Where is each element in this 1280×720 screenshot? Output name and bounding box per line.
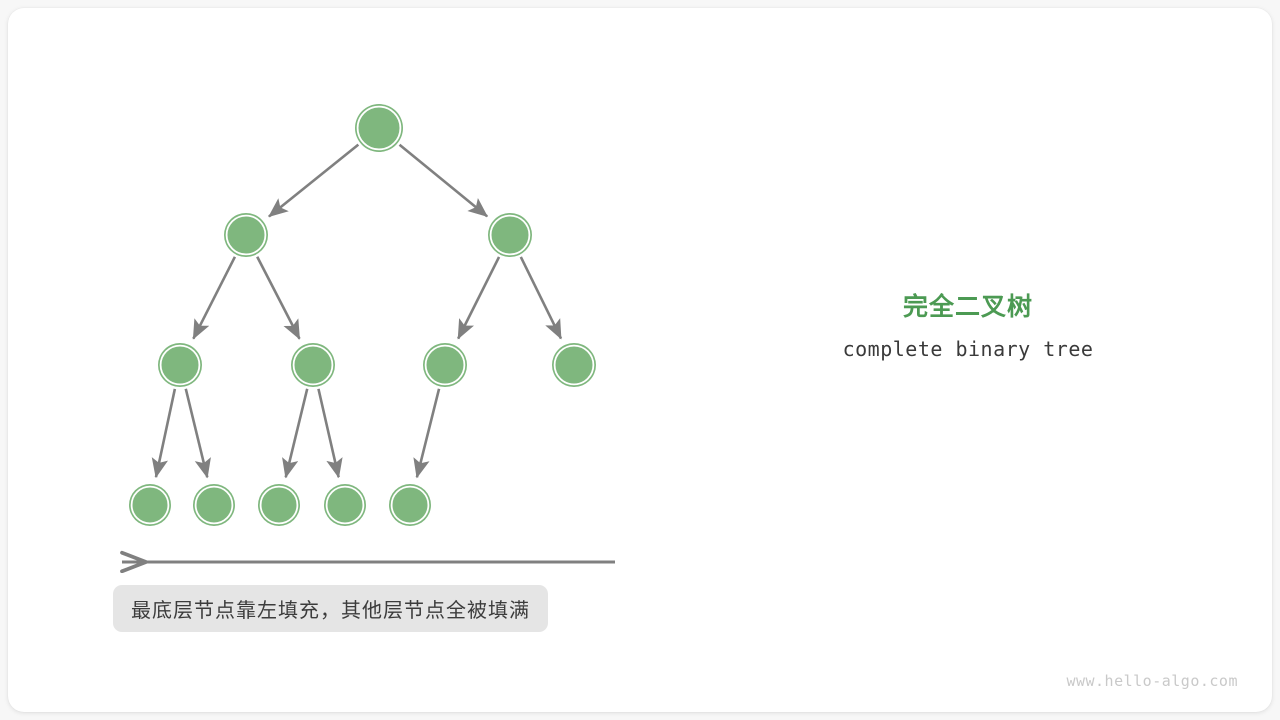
- legend-block: 完全二叉树 complete binary tree: [790, 290, 1146, 361]
- tree-edge: [400, 145, 488, 217]
- node-core: [328, 488, 362, 522]
- node-core: [262, 488, 296, 522]
- node-core: [133, 488, 167, 522]
- node-core: [162, 347, 198, 383]
- tree-edge: [257, 257, 299, 339]
- tree-node: [552, 343, 596, 387]
- node-core: [197, 488, 231, 522]
- tree-node: [488, 213, 532, 257]
- node-core: [427, 347, 463, 383]
- caption-text: 最底层节点靠左填充，其他层节点全被填满: [131, 594, 530, 623]
- tree-edge-layer: [156, 145, 561, 478]
- node-core: [393, 488, 427, 522]
- node-core: [295, 347, 331, 383]
- tree-node: [158, 343, 202, 387]
- tree-edge: [458, 257, 499, 339]
- tree-node: [129, 484, 171, 526]
- tree-node: [291, 343, 335, 387]
- tree-edge: [286, 389, 307, 477]
- tree-edge: [156, 389, 175, 477]
- tree-edge: [521, 257, 561, 339]
- tree-edge: [186, 389, 207, 477]
- tree-node: [258, 484, 300, 526]
- tree-edge: [269, 145, 358, 217]
- tree-node-layer: [129, 104, 596, 526]
- title-english: complete binary tree: [790, 337, 1146, 361]
- caption-badge: 最底层节点靠左填充，其他层节点全被填满: [113, 585, 548, 632]
- tree-node: [423, 343, 467, 387]
- tree-node: [389, 484, 431, 526]
- node-core: [556, 347, 592, 383]
- title-chinese: 完全二叉树: [790, 290, 1146, 324]
- tree-node: [355, 104, 403, 152]
- tree-node: [224, 213, 268, 257]
- node-core: [492, 217, 528, 253]
- diagram-stage: 完全二叉树 complete binary tree 最底层节点靠左填充，其他层…: [0, 0, 1280, 720]
- node-core: [228, 217, 264, 253]
- tree-node: [193, 484, 235, 526]
- tree-edge: [193, 257, 235, 339]
- tree-node: [324, 484, 366, 526]
- watermark: www.hello-algo.com: [1066, 672, 1238, 690]
- tree-edge: [318, 389, 338, 477]
- node-core: [359, 108, 399, 148]
- tree-edge: [417, 389, 439, 478]
